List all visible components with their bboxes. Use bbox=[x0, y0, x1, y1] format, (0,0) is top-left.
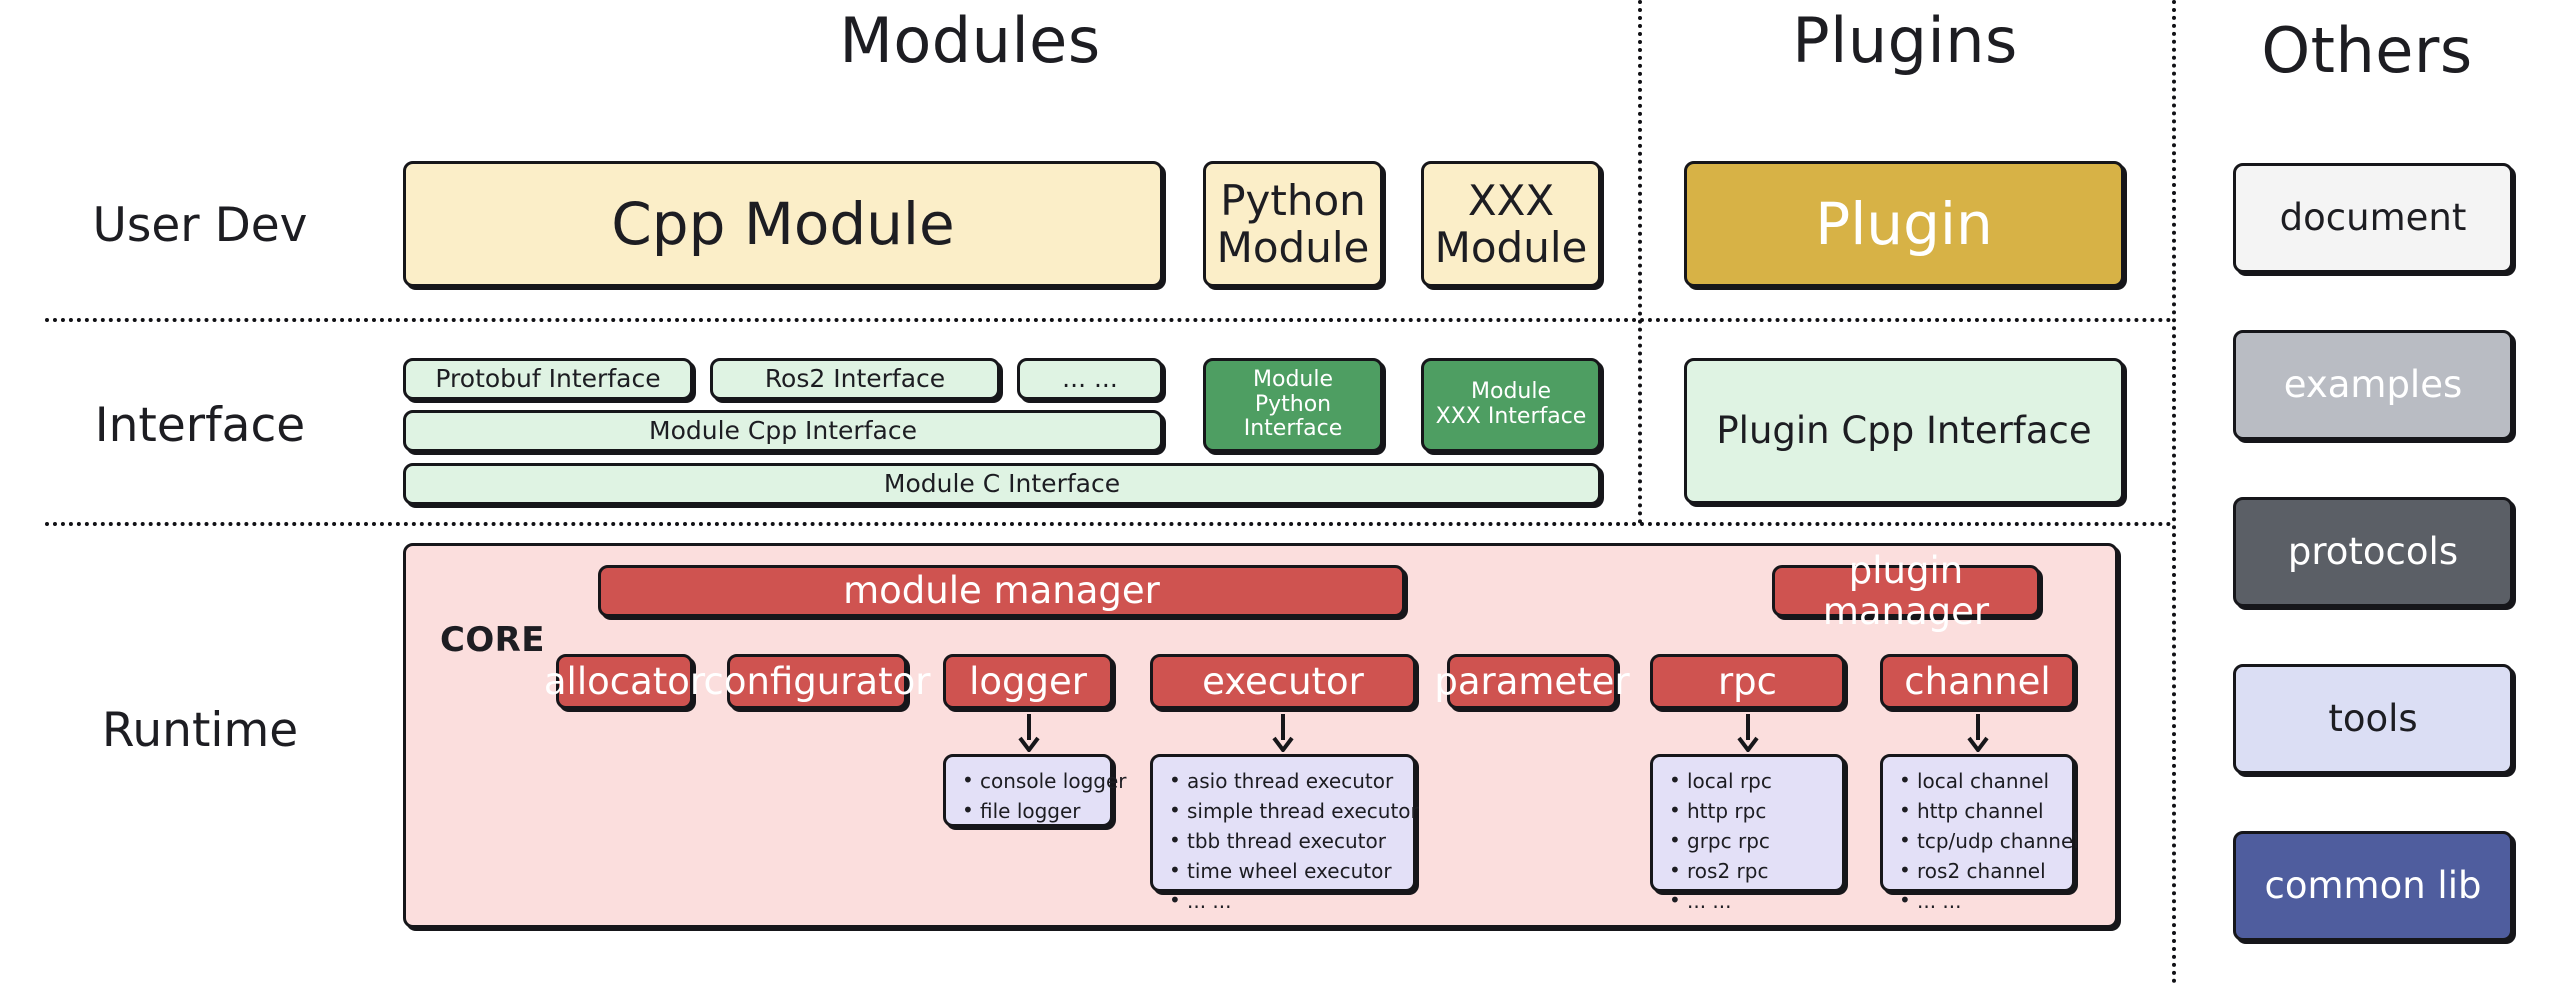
core-label: CORE bbox=[440, 620, 545, 660]
others-label-document: document bbox=[2280, 197, 2467, 238]
protobuf-interface-label: Protobuf Interface bbox=[435, 365, 660, 393]
component-box-parameter[interactable]: parameter bbox=[1447, 654, 1617, 709]
others-item-common-lib[interactable]: common lib bbox=[2233, 831, 2513, 941]
python-module-label-line1: Python bbox=[1220, 177, 1366, 224]
detail-item: grpc rpc bbox=[1667, 826, 1832, 856]
plugin-label: Plugin bbox=[1815, 192, 1993, 257]
arrow-down-logger bbox=[1016, 712, 1042, 752]
detail-item: http rpc bbox=[1667, 796, 1832, 826]
detail-box-channel: local channel http channel tcp/udp chann… bbox=[1880, 754, 2075, 892]
others-item-tools[interactable]: tools bbox=[2233, 664, 2513, 774]
row-label-interface: Interface bbox=[40, 398, 360, 453]
cpp-module-box[interactable]: Cpp Module bbox=[403, 161, 1163, 287]
detail-item: local rpc bbox=[1667, 766, 1832, 796]
xxx-module-label-line1: XXX bbox=[1468, 177, 1554, 224]
plugin-cpp-interface-label: Plugin Cpp Interface bbox=[1716, 410, 2091, 451]
detail-box-logger: console logger file logger bbox=[943, 754, 1113, 827]
others-label-common-lib: common lib bbox=[2265, 865, 2482, 906]
column-title-others: Others bbox=[2174, 14, 2560, 87]
component-label-rpc: rpc bbox=[1718, 661, 1777, 702]
arrow-down-rpc bbox=[1735, 712, 1761, 752]
protobuf-interface-box[interactable]: Protobuf Interface bbox=[403, 358, 693, 400]
module-c-interface-box[interactable]: Module C Interface bbox=[403, 463, 1601, 505]
column-title-modules: Modules bbox=[300, 4, 1640, 77]
divider-user-dev-interface bbox=[45, 318, 2173, 322]
plugin-manager-box[interactable]: plugin manager bbox=[1772, 565, 2040, 617]
module-python-interface-label-line1: Module bbox=[1253, 368, 1333, 393]
detail-box-rpc: local rpc http rpc grpc rpc ros2 rpc ...… bbox=[1650, 754, 1845, 892]
arrow-down-channel bbox=[1965, 712, 1991, 752]
detail-item: tbb thread executor bbox=[1167, 826, 1403, 856]
others-label-protocols: protocols bbox=[2288, 531, 2458, 572]
divider-plugins-others bbox=[2172, 0, 2176, 984]
detail-item: ros2 rpc bbox=[1667, 856, 1832, 886]
column-title-plugins: Plugins bbox=[1640, 4, 2170, 77]
divider-modules-plugins bbox=[1638, 0, 1642, 524]
component-box-executor[interactable]: executor bbox=[1150, 654, 1416, 709]
module-manager-label: module manager bbox=[843, 570, 1160, 611]
detail-item: local channel bbox=[1897, 766, 2062, 796]
detail-item: time wheel executor bbox=[1167, 856, 1403, 886]
component-box-configurator[interactable]: configurator bbox=[727, 654, 907, 709]
component-box-channel[interactable]: channel bbox=[1880, 654, 2075, 709]
component-label-channel: channel bbox=[1904, 661, 2050, 702]
ros2-interface-box[interactable]: Ros2 Interface bbox=[710, 358, 1000, 400]
component-box-rpc[interactable]: rpc bbox=[1650, 654, 1845, 709]
detail-item: ... ... bbox=[1897, 886, 2062, 916]
plugin-box[interactable]: Plugin bbox=[1684, 161, 2124, 287]
component-label-allocator: allocator bbox=[544, 661, 705, 702]
plugin-cpp-interface-box[interactable]: Plugin Cpp Interface bbox=[1684, 358, 2124, 504]
component-box-logger[interactable]: logger bbox=[943, 654, 1113, 709]
python-module-box[interactable]: Python Module bbox=[1203, 161, 1383, 287]
module-cpp-interface-box[interactable]: Module Cpp Interface bbox=[403, 410, 1163, 452]
module-c-interface-label: Module C Interface bbox=[884, 470, 1120, 498]
detail-item: ros2 channel bbox=[1897, 856, 2062, 886]
others-item-document[interactable]: document bbox=[2233, 163, 2513, 273]
module-cpp-interface-label: Module Cpp Interface bbox=[649, 417, 917, 445]
etc-interface-label: ... ... bbox=[1062, 365, 1118, 393]
cpp-module-label: Cpp Module bbox=[611, 192, 954, 257]
component-label-logger: logger bbox=[969, 661, 1087, 702]
component-label-executor: executor bbox=[1202, 661, 1364, 702]
detail-item: simple thread executor bbox=[1167, 796, 1403, 826]
others-label-tools: tools bbox=[2328, 698, 2417, 739]
component-box-allocator[interactable]: allocator bbox=[556, 654, 693, 709]
detail-item: tcp/udp channel bbox=[1897, 826, 2062, 856]
ros2-interface-label: Ros2 Interface bbox=[765, 365, 945, 393]
plugin-manager-label: plugin manager bbox=[1775, 550, 2037, 633]
component-label-configurator: configurator bbox=[704, 661, 931, 702]
component-label-parameter: parameter bbox=[1434, 661, 1629, 702]
module-xxx-interface-label-line2: XXX Interface bbox=[1436, 405, 1587, 430]
xxx-module-label-line2: Module bbox=[1435, 224, 1588, 271]
module-xxx-interface-label-line1: Module bbox=[1471, 380, 1551, 405]
detail-item: http channel bbox=[1897, 796, 2062, 826]
module-xxx-interface-box[interactable]: Module XXX Interface bbox=[1421, 358, 1601, 452]
divider-interface-runtime bbox=[45, 522, 2173, 526]
others-item-examples[interactable]: examples bbox=[2233, 330, 2513, 440]
others-item-protocols[interactable]: protocols bbox=[2233, 497, 2513, 607]
xxx-module-box[interactable]: XXX Module bbox=[1421, 161, 1601, 287]
row-label-runtime: Runtime bbox=[40, 703, 360, 758]
detail-item: ... ... bbox=[1167, 886, 1403, 916]
detail-item: asio thread executor bbox=[1167, 766, 1403, 796]
etc-interface-box[interactable]: ... ... bbox=[1017, 358, 1163, 400]
python-module-label-line2: Module bbox=[1217, 224, 1370, 271]
detail-item: console logger bbox=[960, 766, 1100, 796]
detail-item: ... ... bbox=[1667, 886, 1832, 916]
module-python-interface-label-line2: Python Interface bbox=[1206, 393, 1380, 442]
architecture-diagram: Modules Plugins Others User Dev Interfac… bbox=[0, 0, 2560, 984]
others-label-examples: examples bbox=[2284, 364, 2463, 405]
arrow-down-executor bbox=[1270, 712, 1296, 752]
detail-item: file logger bbox=[960, 796, 1100, 826]
detail-box-executor: asio thread executor simple thread execu… bbox=[1150, 754, 1416, 892]
module-python-interface-box[interactable]: Module Python Interface bbox=[1203, 358, 1383, 452]
row-label-user-dev: User Dev bbox=[40, 198, 360, 253]
module-manager-box[interactable]: module manager bbox=[598, 565, 1405, 617]
